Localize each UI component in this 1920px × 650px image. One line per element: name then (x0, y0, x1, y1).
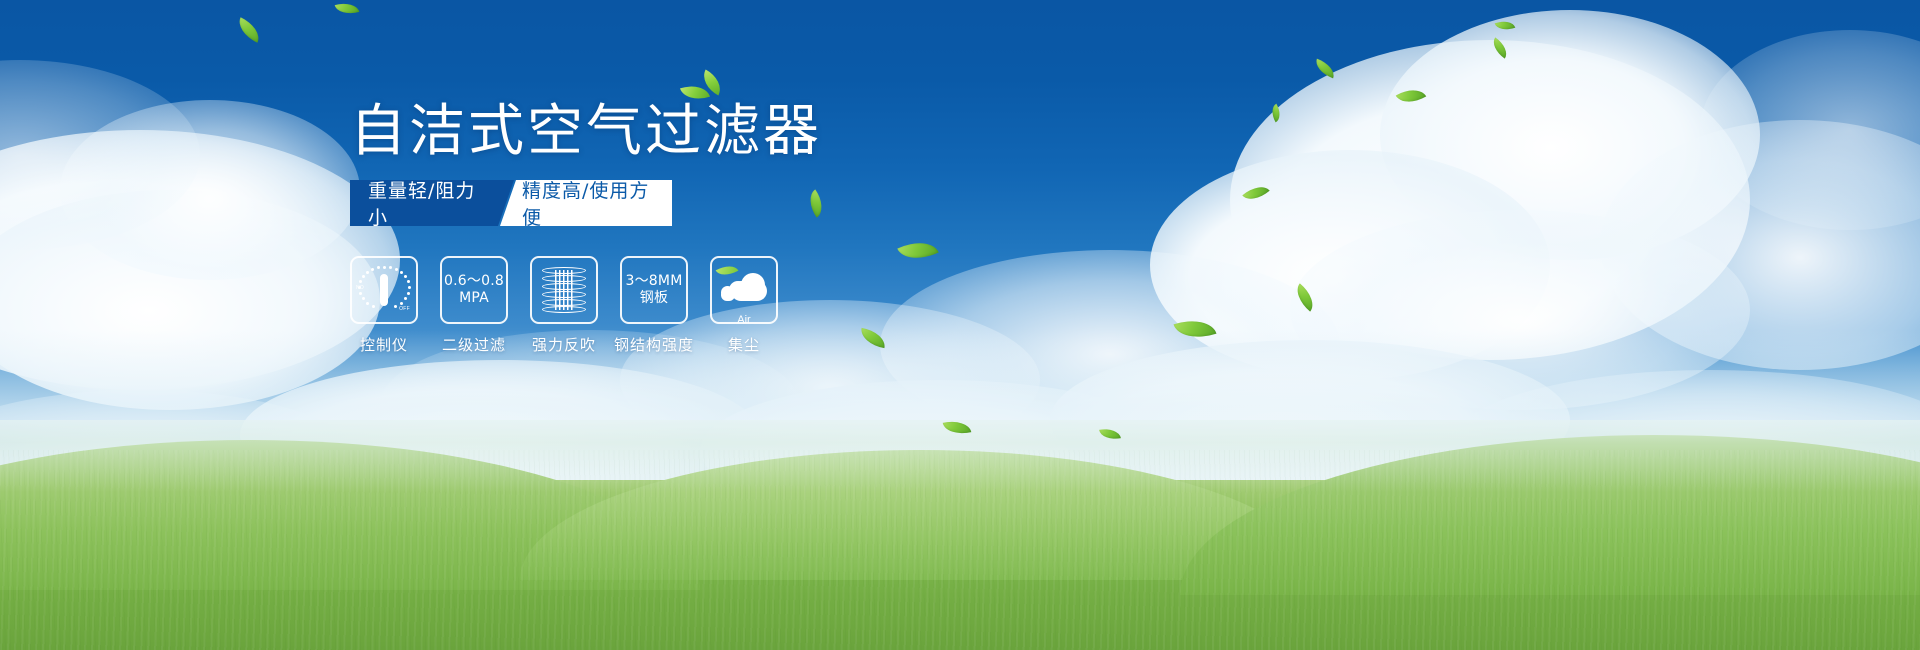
pressure-unit: MPA (459, 290, 489, 307)
feature-item-steel-strength: 3～8MM 钢板 钢结构强度 (620, 256, 688, 355)
gauge-min-label: NO (356, 285, 364, 291)
feature-item-two-stage-filter: 0.6～0.8 MPA 二级过滤 (440, 256, 508, 355)
feature-item-dust-collection: Air 集尘 (710, 256, 778, 355)
steel-thickness: 3～8MM (626, 273, 683, 290)
floating-leaf-icon (1242, 180, 1269, 206)
floating-leaf-icon (1268, 104, 1285, 123)
grass-field (0, 420, 1920, 650)
feature-label: 钢结构强度 (614, 334, 694, 355)
cloud-right-main (1230, 40, 1750, 360)
feature-item-backblow: 强力反吹 (530, 256, 598, 355)
tagline-pill-primary: 重量轻/阻力小 (350, 180, 514, 226)
pressure-value: 0.6～0.8 (444, 273, 504, 290)
cloud-left-3 (60, 100, 360, 280)
cloud-right-5 (1290, 210, 1750, 410)
floating-leaf-icon (1396, 83, 1427, 110)
floating-leaf-icon (1312, 59, 1337, 79)
feature-item-controller: NO OFF 控制仪 (350, 256, 418, 355)
feature-label: 强力反吹 (532, 334, 596, 355)
title-row: 自洁式空气过滤器 (350, 96, 1110, 168)
cloud-left-1 (0, 130, 400, 390)
floating-leaf-icon (335, 0, 360, 18)
floating-leaf-icon (234, 17, 264, 42)
cloud-right-3 (1150, 150, 1550, 380)
feature-icon-box: Air (710, 256, 778, 324)
cloud-right-6 (1700, 30, 1920, 230)
tagline-pill-secondary: 精度高/使用方便 (500, 180, 672, 226)
floating-leaf-icon (1495, 17, 1516, 33)
filter-coil-icon (542, 267, 586, 313)
ground-horizon-glow (0, 420, 1920, 492)
feature-icon-box: 0.6～0.8 MPA (440, 256, 508, 324)
cloud-right-4 (1600, 120, 1920, 370)
hero-banner: 自洁式空气过滤器 重量轻/阻力小 精度高/使用方便 (0, 0, 1920, 650)
steel-material: 钢板 (640, 290, 668, 307)
tagline-pills: 重量轻/阻力小 精度高/使用方便 (350, 180, 672, 226)
banner-content: 自洁式空气过滤器 重量轻/阻力小 精度高/使用方便 (350, 96, 1110, 355)
gauge-max-label: OFF (399, 306, 410, 312)
feature-icon-box (530, 256, 598, 324)
page-title: 自洁式空气过滤器 (350, 96, 1110, 168)
cloud-left-2 (0, 190, 380, 410)
gauge-dial-icon: NO OFF (357, 265, 411, 315)
air-label: Air (719, 314, 769, 326)
floating-leaf-icon (1174, 313, 1217, 346)
cloud-left-4 (0, 60, 200, 250)
feature-list: NO OFF 控制仪 0.6～0.8 MPA 二级过滤 (350, 256, 1110, 355)
feature-label: 控制仪 (360, 334, 408, 355)
floating-leaf-icon (1488, 37, 1511, 58)
feature-icon-box: 3～8MM 钢板 (620, 256, 688, 324)
floating-leaf-icon (1290, 283, 1320, 311)
feature-label: 二级过滤 (442, 334, 506, 355)
cloud-air-icon: Air (719, 269, 769, 311)
feature-icon-box: NO OFF (350, 256, 418, 324)
leaf-pair-icon (682, 74, 728, 104)
cloud-right-2 (1380, 10, 1760, 260)
feature-label: 集尘 (728, 334, 760, 355)
